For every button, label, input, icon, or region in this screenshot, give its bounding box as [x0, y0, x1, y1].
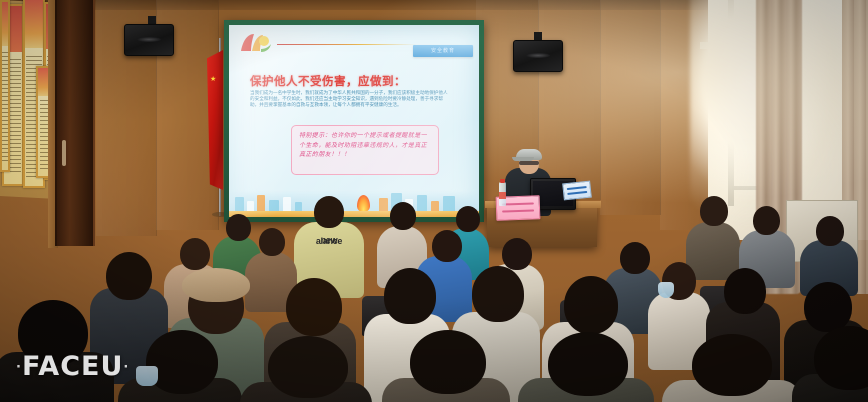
head: [804, 282, 852, 332]
building: [443, 196, 455, 211]
faceu-watermark: ·FACEU·: [16, 351, 129, 382]
head: [146, 330, 218, 394]
classroom-photo: ★ ★ 安全教育 保护他人不受伤害，应做到： 当我们成为一名中学生时，我们就成为…: [0, 0, 868, 402]
head: [268, 336, 348, 398]
projection-screen: 安全教育 保护他人不受伤害，应做到： 当我们成为一名中学生时，我们就成为了中华人…: [229, 25, 479, 217]
slide-quote-box: 特别提示：也许你的一个提示或者提醒就是一个生命，能及时劝阻违章违规的人，才是真正…: [291, 125, 439, 175]
slide-section-tag-label: 安全教育: [413, 45, 473, 57]
building: [247, 201, 254, 211]
building: [379, 198, 388, 211]
sign-text-line: [567, 191, 587, 195]
presenter-cap: [516, 149, 542, 160]
jacket-brand-line2: alance: [294, 237, 364, 246]
face-mask: [658, 282, 674, 298]
wall-speaker-left: [124, 24, 174, 56]
slide-section-tag: 安全教育: [413, 45, 473, 57]
watermark-dot-right: ·: [123, 360, 129, 375]
watermark-text: FACEU: [22, 351, 123, 382]
bottle-label: [499, 192, 506, 199]
head: [472, 266, 524, 322]
head: [314, 196, 344, 228]
head: [286, 278, 342, 336]
wall-panel-5: [600, 0, 661, 215]
wall-panel-4: [538, 0, 601, 200]
head: [180, 238, 210, 270]
head: [724, 268, 766, 314]
slide-divider: [277, 44, 417, 45]
head: [456, 206, 480, 232]
door-handle[interactable]: [62, 140, 66, 166]
head: [410, 330, 486, 394]
building: [283, 197, 291, 211]
flag-star: ★: [210, 76, 216, 83]
wall-speaker-right: [513, 40, 563, 72]
head: [390, 202, 416, 230]
building: [431, 201, 439, 211]
slide-road-band: [229, 211, 479, 217]
head: [502, 238, 532, 270]
flame-icon: [357, 195, 370, 212]
building: [257, 195, 265, 211]
head: [384, 268, 436, 324]
building: [235, 197, 244, 211]
building: [295, 202, 302, 211]
room-door[interactable]: [55, 0, 95, 246]
slide-title: 保护他人不受伤害，应做到：: [250, 73, 406, 89]
slide-city-illustration: [229, 191, 479, 217]
head: [564, 276, 618, 334]
projection-screen-frame: 安全教育 保护他人不受伤害，应做到： 当我们成为一名中学生时，我们就成为了中华人…: [224, 20, 484, 222]
sign-text-line: [567, 186, 587, 190]
slide-body-text: 当我们成为一名中学生时，我们就成为了中华人民共和国的一分子，我们应该积极主动地保…: [250, 90, 450, 109]
head: [620, 242, 650, 274]
head: [753, 206, 780, 235]
slide-quote-text: 特别提示：也许你的一个提示或者提醒就是一个生命，能及时劝阻违章违规的人，才是真正…: [299, 132, 433, 161]
head: [226, 214, 251, 241]
head: [432, 230, 462, 262]
head: [700, 196, 728, 226]
face-mask: [136, 366, 158, 386]
slide-logo-icon: [239, 32, 273, 53]
notice-board-4: [0, 0, 10, 172]
bottle-cap: [500, 179, 505, 183]
sign-text-line: [502, 202, 534, 205]
head: [692, 334, 772, 396]
head: [259, 228, 285, 256]
sign-text-line: [502, 209, 534, 212]
head: [548, 332, 628, 396]
head: [106, 252, 152, 300]
beret-hat: [182, 268, 250, 302]
presenter-glasses: [519, 161, 539, 165]
building: [417, 195, 427, 211]
building: [269, 200, 279, 211]
head: [816, 216, 844, 246]
notice-text-lines: [2, 52, 7, 161]
water-bottle: [499, 182, 506, 206]
blue-paper-card: [562, 181, 592, 201]
watermark-dot-left: ·: [16, 360, 22, 375]
